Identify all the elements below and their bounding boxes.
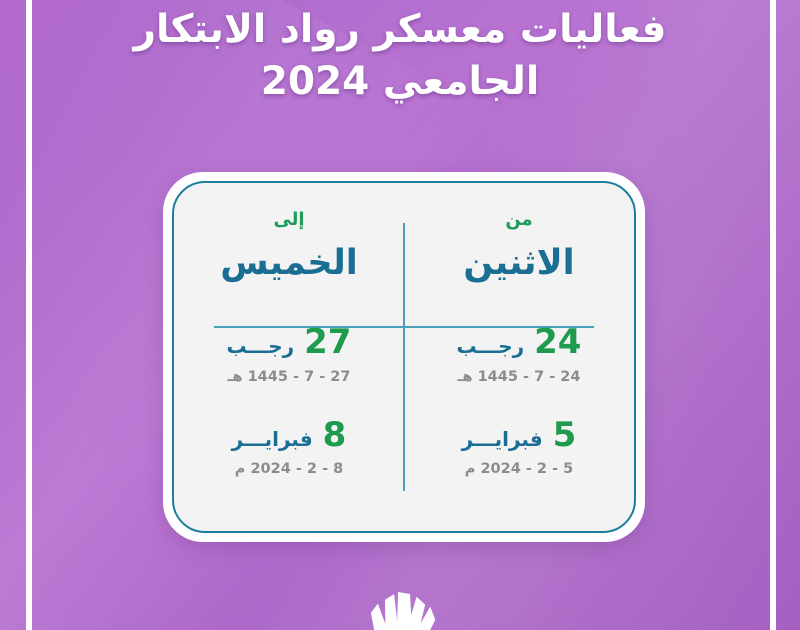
from-hijri-month-name: رجـــب: [457, 335, 525, 357]
to-gregorian-date: 8 فبرايـــر 8 - 2 - 2024 م: [174, 417, 404, 477]
page-title-line-2: الجامعي 2024: [0, 56, 800, 108]
to-gregorian-main: 8 فبرايـــر: [174, 417, 404, 454]
from-gregorian-month-name: فبرايـــر: [462, 428, 543, 450]
to-gregorian-day-number: 8: [323, 417, 347, 454]
from-day-name: الاثنين: [463, 243, 574, 284]
event-date-poster: فعاليات معسكر رواد الابتكار الجامعي 2024…: [0, 0, 800, 630]
page-title: فعاليات معسكر رواد الابتكار الجامعي 2024: [0, 0, 800, 108]
to-day-name: الخميس: [220, 243, 358, 284]
from-gregorian-date: 5 فبرايـــر 5 - 2 - 2024 م: [404, 417, 634, 477]
from-hijri-date: 24 رجـــب 24 - 7 - 1445 هـ: [404, 324, 634, 384]
to-gregorian-month-name: فبرايـــر: [232, 428, 313, 450]
to-hijri-full-date: 27 - 7 - 1445 هـ: [174, 369, 404, 385]
to-gregorian-full-date: 8 - 2 - 2024 م: [174, 461, 404, 477]
date-column-to: إلى الخميس 27 رجـــب 27 - 7 - 1445 هـ 8 …: [174, 183, 404, 531]
from-hijri-full-date: 24 - 7 - 1445 هـ: [404, 369, 634, 385]
to-hijri-day-number: 27: [304, 324, 351, 361]
from-gregorian-main: 5 فبرايـــر: [404, 417, 634, 454]
to-hijri-month-name: رجـــب: [227, 335, 295, 357]
palm-fan-logo-icon: [340, 578, 460, 630]
from-label: من: [505, 211, 532, 229]
to-hijri-date: 27 رجـــب 27 - 7 - 1445 هـ: [174, 324, 404, 384]
from-gregorian-full-date: 5 - 2 - 2024 م: [404, 461, 634, 477]
date-columns: من الاثنين 24 رجـــب 24 - 7 - 1445 هـ 5 …: [174, 183, 634, 531]
date-range-card: من الاثنين 24 رجـــب 24 - 7 - 1445 هـ 5 …: [163, 172, 645, 542]
to-hijri-main: 27 رجـــب: [174, 324, 404, 361]
date-range-card-inner: من الاثنين 24 رجـــب 24 - 7 - 1445 هـ 5 …: [172, 181, 636, 533]
page-title-line-1: فعاليات معسكر رواد الابتكار: [0, 4, 800, 56]
from-hijri-day-number: 24: [534, 324, 581, 361]
to-label: إلى: [273, 211, 304, 229]
from-gregorian-day-number: 5: [553, 417, 577, 454]
date-column-from: من الاثنين 24 رجـــب 24 - 7 - 1445 هـ 5 …: [404, 183, 634, 531]
from-hijri-main: 24 رجـــب: [404, 324, 634, 361]
